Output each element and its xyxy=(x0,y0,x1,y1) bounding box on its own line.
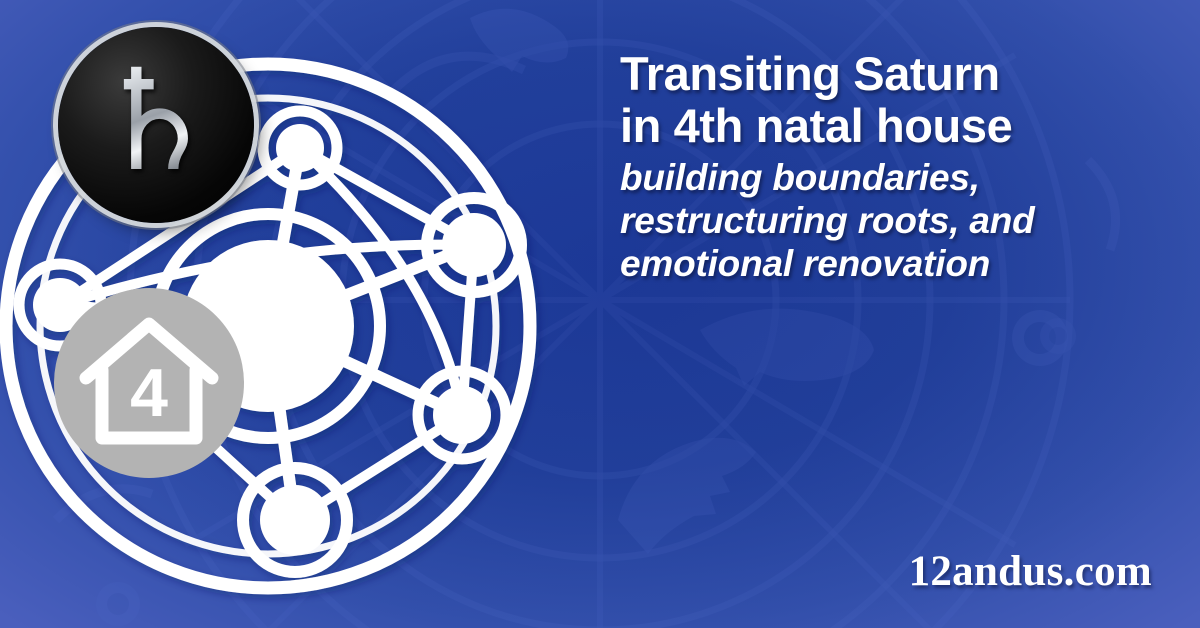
house-number-badge: 4 xyxy=(54,288,244,478)
house-icon: 4 xyxy=(74,308,224,458)
astrology-banner: ♄ 4 Transiting Saturn in 4th natal house… xyxy=(0,0,1200,628)
saturn-planet-badge: ♄ xyxy=(58,27,254,223)
site-url[interactable]: 12andus.com xyxy=(909,547,1152,596)
saturn-glyph-icon: ♄ xyxy=(93,52,219,192)
house-number-text: 4 xyxy=(130,355,168,431)
headline-block: Transiting Saturn in 4th natal house bui… xyxy=(620,48,1180,286)
page-title: Transiting Saturn in 4th natal house xyxy=(620,48,1180,151)
page-subtitle: building boundaries, restructuring roots… xyxy=(620,157,1180,286)
